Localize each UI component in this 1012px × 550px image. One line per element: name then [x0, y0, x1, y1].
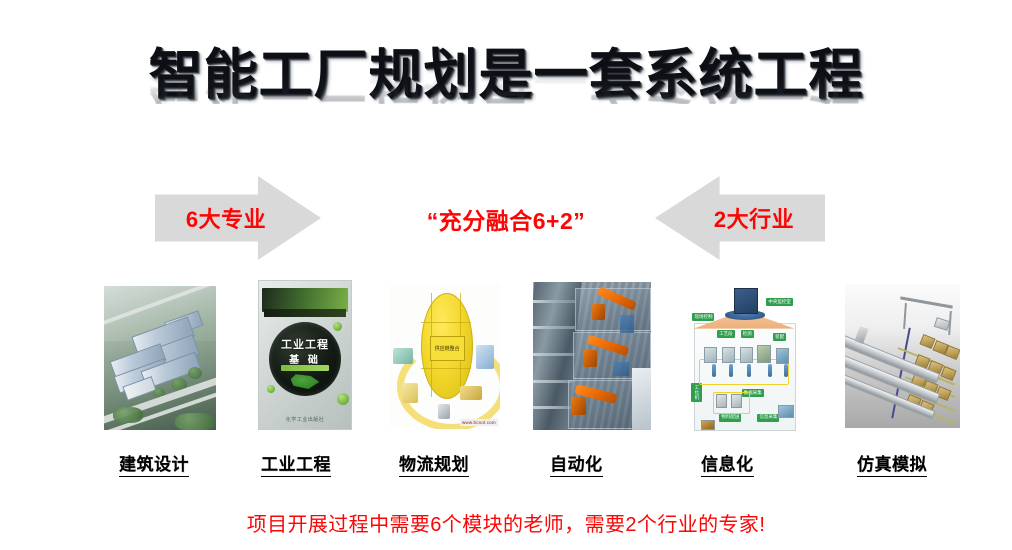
book-cover: 工业工程 基 础 化学工业出版社 — [258, 280, 352, 430]
footer-note: 项目开展过程中需要6个模块的老师，需要2个行业的专家! — [0, 508, 1012, 537]
info-workstation — [704, 347, 717, 363]
book-subheader-band — [264, 309, 347, 316]
conveyor-roller — [533, 326, 576, 329]
robot-arm-base — [583, 350, 597, 367]
slide-title-block: 智能工厂规划是一套系统工程 智能工厂规划是一套系统工程 — [0, 48, 1012, 150]
machine-module — [620, 315, 634, 333]
info-workstation — [740, 347, 753, 363]
book-dot — [337, 393, 349, 405]
aerial-greenery — [113, 407, 143, 423]
module-image-industrial-engineering-book-cover: 工业工程 基 础 化学工业出版社 — [258, 280, 352, 430]
logistics-node — [438, 404, 450, 419]
module-image-logistics-planning-diagram: 供应链整合 www.bcnol.com — [390, 284, 500, 429]
aerial-greenery — [175, 413, 215, 430]
caption-informatization: 信息化 — [701, 450, 754, 477]
book-accent-bar — [281, 365, 330, 372]
info-operator — [768, 364, 772, 377]
book-title: 工业工程 — [269, 336, 341, 352]
caption-simulation: 仿真模拟 — [857, 450, 927, 477]
robot-arm-base — [592, 304, 605, 320]
info-label: 工艺段 — [717, 330, 735, 338]
logistics-node — [460, 386, 482, 400]
info-label: 物料配送 — [719, 414, 741, 422]
module-caption-row: 建筑设计 工业工程 物流规划 自动化 信息化 仿真模拟 — [0, 450, 1012, 478]
module-image-strip: 工业工程 基 础 化学工业出版社 供应链整合 — [0, 276, 1012, 436]
logistics-sphere-gridline — [421, 368, 472, 369]
info-label: 装配 — [773, 333, 786, 341]
logistics-sphere-gridline — [421, 322, 472, 323]
robot-arm-base — [571, 397, 586, 415]
logistics-node — [476, 345, 494, 369]
info-agv-cart — [731, 394, 742, 408]
conveyor-roller — [533, 353, 576, 356]
logistics-node — [393, 348, 413, 364]
info-material-bin — [701, 420, 715, 430]
caption-industrial-engineering: 工业工程 — [261, 450, 331, 477]
info-control-room — [734, 288, 758, 314]
conveyor-roller — [533, 300, 576, 303]
book-dot — [267, 385, 275, 393]
info-operator — [747, 364, 751, 377]
info-workstation — [757, 345, 771, 363]
logistics-node — [402, 383, 418, 403]
info-agv-cart — [716, 394, 727, 408]
logistics-watermark: www.bcnol.com — [460, 419, 498, 426]
center-slogan: “充分融合6+2” — [0, 202, 1012, 236]
info-operator — [784, 364, 788, 377]
control-cabinet — [632, 368, 651, 430]
book-leaf-graphic — [291, 374, 320, 389]
machine-module — [613, 362, 629, 376]
caption-architectural-design: 建筑设计 — [119, 450, 189, 477]
info-label: 信息采集 — [757, 414, 779, 422]
module-image-simulation-3d-render — [845, 284, 960, 428]
module-image-informatization-system-diagram: 现场控制 中央监控室 工艺段 检测 装配 工位机 数据采集 物料配送 信息采集 — [688, 280, 800, 432]
info-workstation — [776, 348, 789, 364]
caption-automation: 自动化 — [550, 450, 603, 477]
book-circle-emblem: 工业工程 基 础 — [269, 322, 341, 396]
aerial-greenery — [188, 367, 202, 379]
info-label: 现场控制 — [692, 313, 714, 321]
module-image-aerial-factory-render — [104, 286, 216, 430]
info-label: 工位机 — [691, 383, 702, 402]
info-operator — [712, 364, 716, 377]
module-image-automation-robot-line-photo — [533, 282, 651, 430]
info-operator — [729, 364, 733, 377]
book-subtitle: 基 础 — [269, 351, 341, 366]
page-title-reflection: 智能工厂规划是一套系统工程 — [0, 58, 1012, 104]
book-dot — [333, 322, 342, 331]
info-label: 中央监控室 — [766, 298, 793, 306]
caption-logistics-planning: 物流规划 — [399, 450, 469, 477]
info-terminal — [778, 405, 794, 418]
logistics-core-label: 供应链整合 — [430, 336, 465, 361]
info-label: 检测 — [741, 330, 754, 338]
info-workstation — [722, 347, 735, 363]
book-publisher: 化学工业出版社 — [259, 416, 351, 423]
